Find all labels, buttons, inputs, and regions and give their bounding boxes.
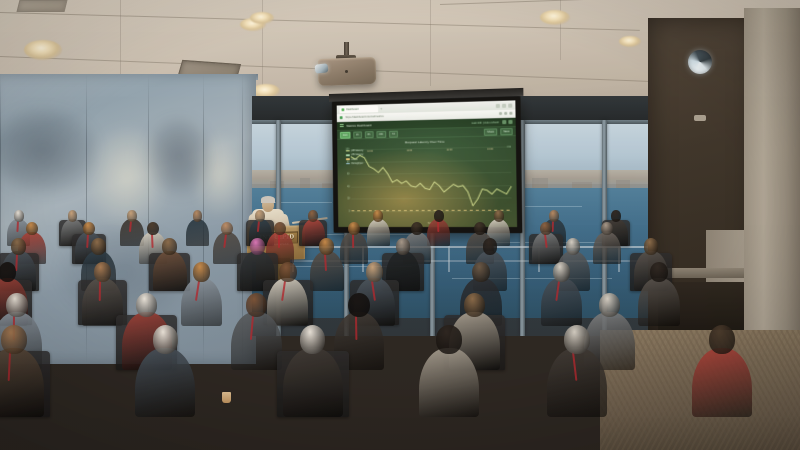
audience-member-torso [231,312,281,370]
chart-gridline [351,146,511,150]
audience-member-torso [181,278,223,326]
audience-member-head [553,262,571,282]
dashboard-title: Metrics Dashboard [346,123,371,128]
audience-member-head [434,210,444,221]
audience-member-torso [692,348,752,417]
chart-x-tick-label: 12:00 [446,150,452,153]
browser-tab-bar: Dashboard + [337,100,516,114]
projector-lens-icon [315,63,329,73]
extension-icon[interactable] [499,112,502,115]
audience-member-head [246,293,267,317]
audience-member-head [601,222,613,235]
legend-label: p95 latency [351,149,363,152]
audience-member-head [373,210,383,221]
chart-legend-item[interactable]: errors [346,158,364,161]
wall-plate [694,115,706,121]
legend-label: p50 latency [351,153,363,156]
conference-room-photo: Dashboard + https://dashboard.internal/m… [0,0,800,450]
chart-y-tick-label: 0 [349,210,350,213]
audience-member [231,293,281,375]
audience-member-head [472,262,490,282]
chart-gridline [351,198,511,200]
audience-member-torso [638,278,680,326]
audience-member-head [709,325,735,354]
chart-title: Request Latency Over Time [337,138,516,146]
chart-y-tick-label: 20 [347,197,350,200]
audience-member-torso [541,278,583,326]
legend-color-swatch [346,154,350,156]
audience-member [638,262,680,330]
audience-member [547,325,607,423]
audience-member [186,210,209,248]
save-button[interactable]: Save [500,128,512,135]
downlight [250,12,274,24]
audience-member-head [68,210,78,221]
audience-member [593,222,621,268]
chart-plot-area: Time 10080604020010:0011:0012:0013:00 [351,146,512,211]
conference-lanyard [278,234,280,248]
chart-gridline [351,185,511,187]
audience-member-head [6,293,27,317]
audience-member-head [483,238,498,254]
audience-member-head [153,325,179,354]
audience-member-head [319,238,334,254]
audience-member-head [1,325,27,354]
audience-member-head [599,293,620,317]
audience-member-head [348,293,369,317]
audience-member [181,262,223,330]
chart-x-tick-label: 13:00 [487,149,493,152]
range-button-1h[interactable]: 1h [353,131,362,138]
audience-member-torso [419,348,479,417]
audience-member-head [91,238,106,254]
audience-member [340,222,368,268]
audience-member-head [348,222,360,235]
audience-member-head [411,222,423,235]
audience-member [541,262,583,330]
structural-column-right [744,8,800,348]
audience-member-head [83,222,95,235]
chart-line-series [351,146,512,211]
browser-extensions[interactable] [499,112,512,115]
range-button-7d[interactable]: 7d [389,130,398,137]
conference-lanyard [352,234,354,248]
menu-icon[interactable] [340,124,344,128]
range-button-live[interactable]: Live [340,131,350,138]
audience-member-torso [340,232,368,264]
downlight [619,36,641,47]
audience-member-torso [310,251,344,291]
audience-member-head [396,238,411,254]
coffee-cup [222,392,231,403]
address-bar-url: https://dashboard.internal/metrics [345,112,496,119]
audience-member-head [564,325,590,354]
audience-member-head [549,210,559,221]
audience-member-head [193,262,211,282]
wall-light-fixture-icon [688,50,712,74]
audience-member-head [0,262,16,282]
chart-subtitle: ms [507,145,511,148]
audience-member [135,325,195,423]
audience-member-head [147,222,159,235]
downlight [24,40,62,60]
chart-legend-item[interactable]: throughput [346,162,364,165]
dashboard-header-icons [502,120,512,124]
dashboard-header-status: Last 24h | Auto-refresh [471,121,499,125]
audience-member-torso [283,348,343,417]
chart-legend: p95 latencyp50 latencyerrorsthroughput [346,149,364,165]
audience-member-head [250,238,265,254]
favicon-icon [341,108,344,111]
audience-member-head [221,222,233,235]
chart-y-tick-label: 60 [347,173,350,176]
conference-lanyard [437,221,439,232]
minimize-icon[interactable] [496,103,500,107]
window-controls[interactable] [496,103,513,108]
new-tab-button[interactable]: + [380,107,382,111]
share-button[interactable]: Share [484,128,497,135]
downlight [540,10,570,25]
close-icon[interactable] [508,103,512,107]
chart-x-tick-label: 11:00 [407,150,413,153]
legend-color-swatch [346,150,350,152]
audience-member-torso [593,232,621,264]
audience-member-head [494,210,504,221]
audience-member-head [193,210,203,221]
audience-member-head [464,293,485,317]
extension-icon[interactable] [504,112,507,115]
audience-member-head [300,325,326,354]
chart-legend-item[interactable]: p50 latency [346,153,364,156]
legend-color-swatch [346,163,350,165]
lock-icon [340,116,343,119]
chart-y-tick-label: 40 [347,185,350,188]
audience-member-head [279,262,297,282]
projector-indicator-icon [345,70,348,73]
legend-color-swatch [346,159,350,161]
screen-surface: Dashboard + https://dashboard.internal/m… [337,100,517,227]
audience-member [283,325,343,423]
refresh-icon[interactable] [502,120,506,124]
range-button-24h[interactable]: 24h [376,130,386,137]
profile-avatar-icon[interactable] [509,112,512,115]
audience-member-head [94,262,112,282]
audience-member-head [162,238,177,254]
legend-label: throughput [351,162,363,165]
audience-member-head [26,222,38,235]
browser-tab-title: Dashboard [346,108,358,111]
audience-member-head [127,210,137,221]
chart-x-tick-label: 10:00 [367,151,373,154]
audience-member-head [611,210,621,221]
audience-member-head [274,222,286,235]
speaker-hair [261,196,275,203]
audience-member-head [308,210,318,221]
audience-member [419,325,479,423]
audience-member [692,325,752,423]
audience-member-head [540,222,552,235]
audience-member-head [474,222,486,235]
audience-member-head [566,238,581,254]
audience-member-head [136,293,157,317]
audience-member-head [11,238,26,254]
legend-label: errors [351,158,357,161]
audience-member [0,325,44,423]
ceiling-vent [17,0,68,12]
audience-member-head [650,262,668,282]
audience-member-head [436,325,462,354]
audience-member-torso [135,348,195,417]
chart-legend-item[interactable]: p95 latency [346,149,364,152]
audience-member [310,238,344,294]
audience-member-head [255,210,265,221]
audience-member-head [366,262,384,282]
audience-member-torso [547,348,607,417]
audience-member-torso [186,219,209,246]
audience-member-head [14,210,24,221]
browser-tab[interactable]: Dashboard [340,105,379,113]
audience-member-head [644,238,659,254]
maximize-icon[interactable] [502,103,506,107]
range-button-6h[interactable]: 6h [364,131,373,138]
gear-icon[interactable] [508,120,512,124]
